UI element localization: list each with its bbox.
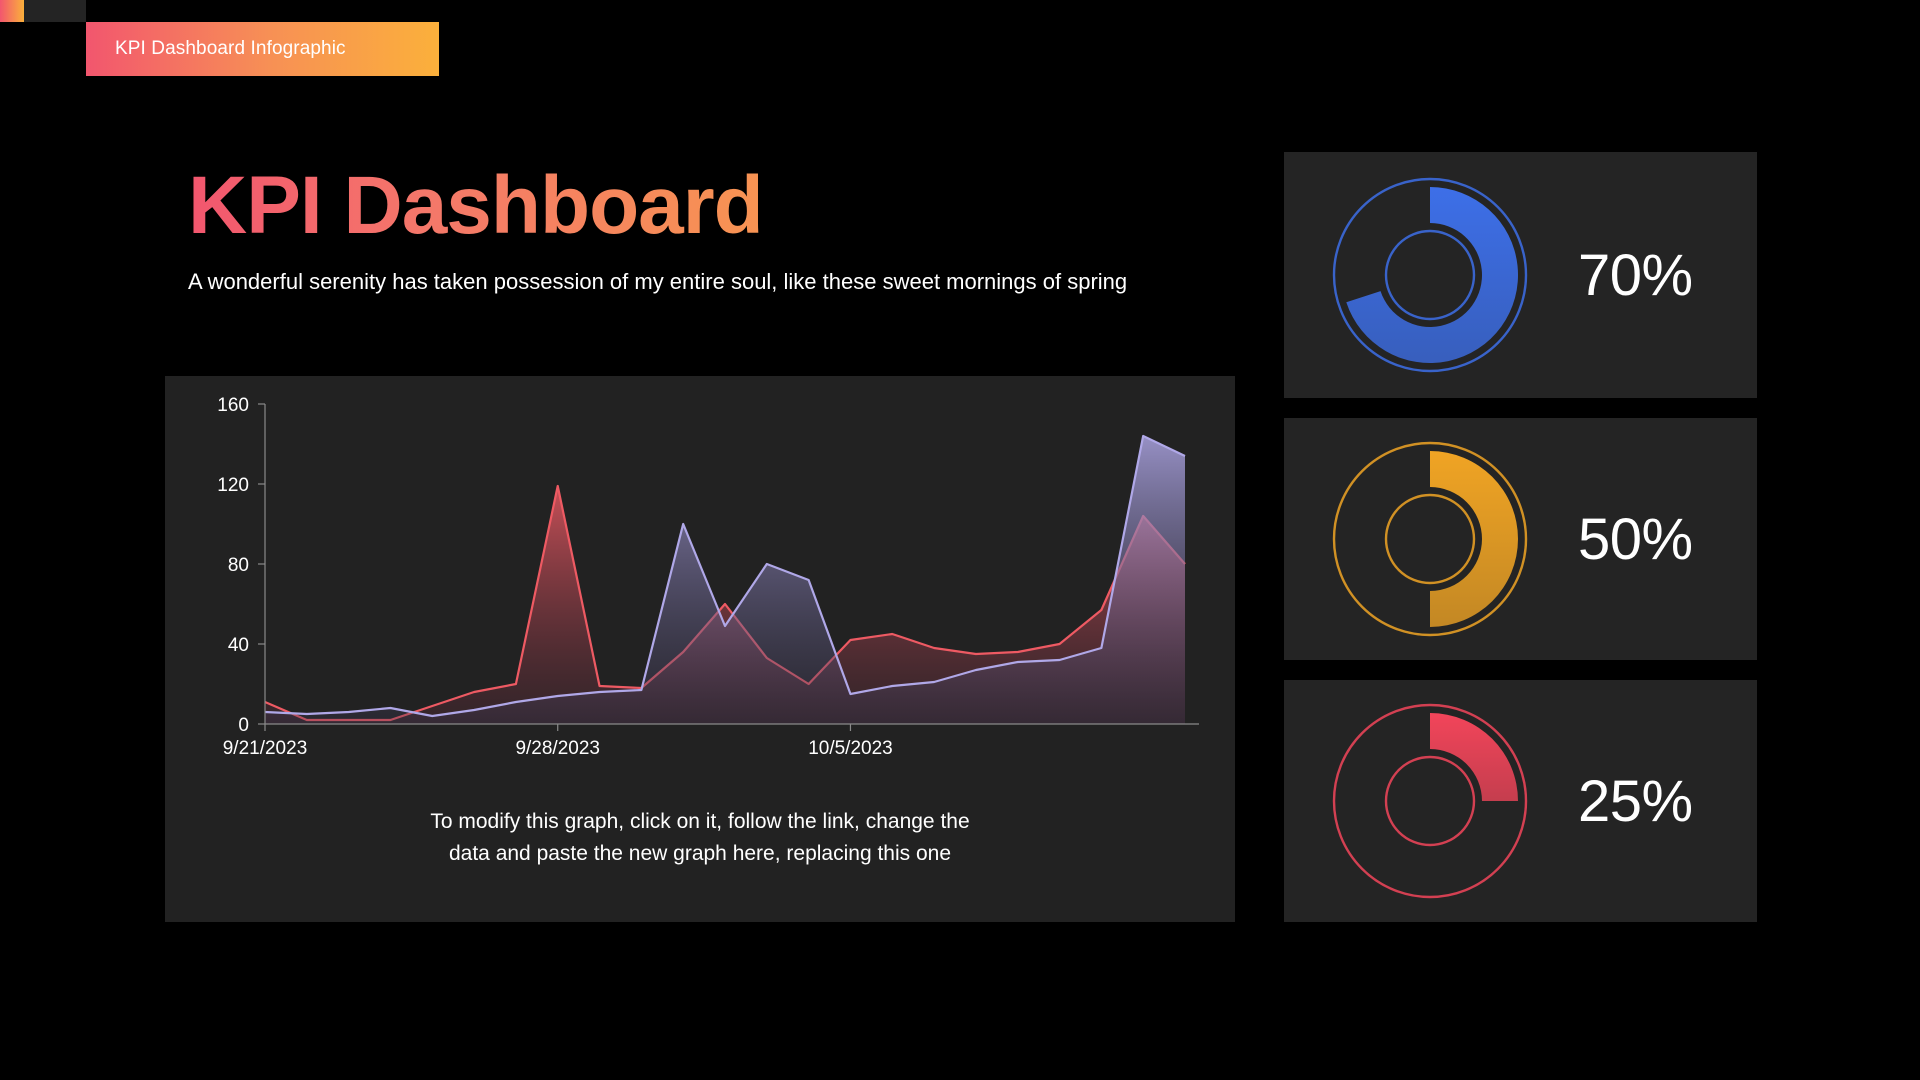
svg-text:40: 40 (228, 635, 249, 656)
svg-text:10/5/2023: 10/5/2023 (808, 738, 893, 759)
header-badge-label: KPI Dashboard Infographic (115, 38, 346, 60)
corner-dark-mark-icon (24, 0, 86, 22)
svg-text:80: 80 (228, 555, 249, 576)
chart-caption-line-1: To modify this graph, click on it, follo… (165, 806, 1235, 838)
chart-panel[interactable]: 040801201609/21/20239/28/202310/5/2023 T… (165, 376, 1235, 922)
svg-text:0: 0 (238, 715, 249, 736)
corner-gradient-mark-icon (0, 0, 24, 22)
page-subtitle: A wonderful serenity has taken possessio… (188, 269, 1248, 295)
area-chart[interactable]: 040801201609/21/20239/28/202310/5/2023 (165, 376, 1235, 806)
slide-canvas: KPI Dashboard Infographic KPI Dashboard … (0, 0, 1920, 1080)
donut-chart-icon-2 (1326, 439, 1534, 639)
kpi-value-2: 50% (1578, 506, 1693, 573)
page-title: KPI Dashboard (188, 165, 1248, 247)
svg-text:160: 160 (217, 395, 249, 416)
svg-text:120: 120 (217, 475, 249, 496)
donut-chart-icon-1 (1326, 175, 1534, 375)
kpi-card-1[interactable]: 70% (1284, 152, 1757, 398)
kpi-card-2[interactable]: 50% (1284, 418, 1757, 660)
kpi-value-3: 25% (1578, 768, 1693, 835)
donut-chart-icon-3 (1326, 701, 1534, 901)
chart-caption: To modify this graph, click on it, follo… (165, 806, 1235, 869)
svg-text:9/28/2023: 9/28/2023 (515, 738, 600, 759)
svg-text:9/21/2023: 9/21/2023 (223, 738, 308, 759)
hero-block: KPI Dashboard A wonderful serenity has t… (188, 165, 1248, 295)
header-badge: KPI Dashboard Infographic (86, 22, 439, 76)
chart-caption-line-2: data and paste the new graph here, repla… (165, 838, 1235, 870)
kpi-value-1: 70% (1578, 242, 1693, 309)
kpi-card-3[interactable]: 25% (1284, 680, 1757, 922)
